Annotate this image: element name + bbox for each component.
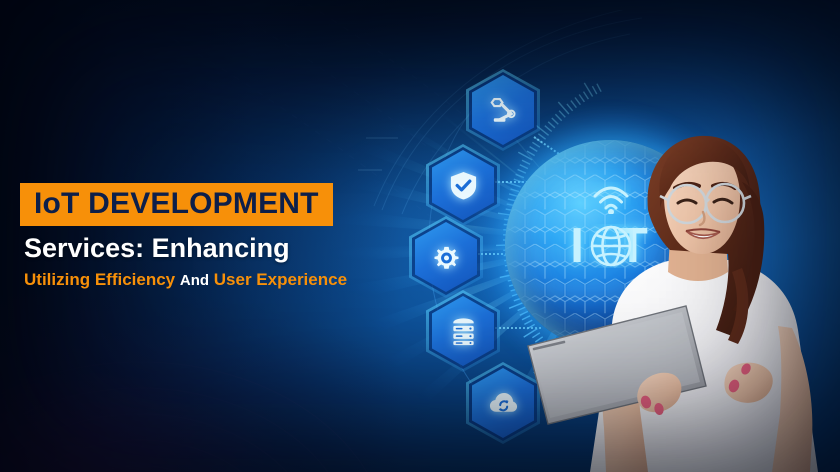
title-badge: IoT DEVELOPMENT: [20, 183, 333, 226]
headline-block: IoT DEVELOPMENT Services: Enhancing Util…: [20, 183, 440, 290]
subtitle-text: Services: Enhancing: [20, 234, 440, 262]
iot-development-banner: IoT: [0, 0, 840, 472]
tagline-part-3: User Experience: [214, 270, 347, 289]
tagline: Utilizing Efficiency And User Experience: [20, 271, 440, 290]
badge-text: IoT DEVELOPMENT: [34, 187, 319, 220]
tagline-part-1: Utilizing Efficiency: [24, 270, 175, 289]
tagline-part-2: And: [180, 272, 209, 289]
